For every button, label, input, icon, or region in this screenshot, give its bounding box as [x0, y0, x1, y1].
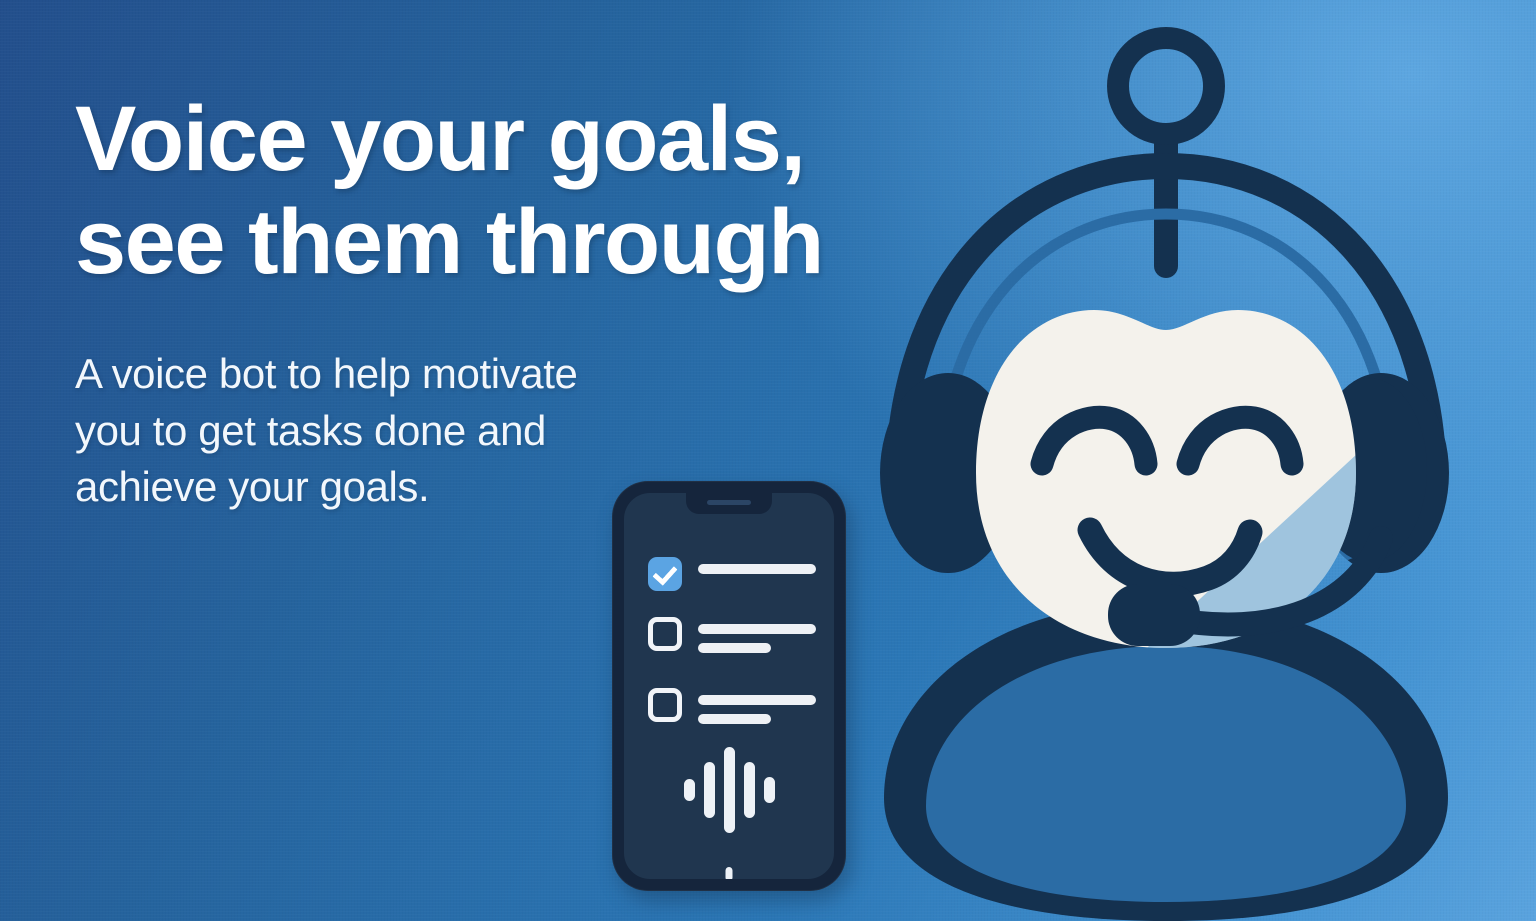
voice-waveform-icon[interactable]: [624, 745, 834, 835]
hero-banner: Voice your goals, see them through A voi…: [0, 0, 1536, 921]
task-line: [698, 624, 816, 634]
phone-screen: [624, 493, 834, 879]
waveform-bar: [764, 777, 775, 803]
waveform-bar: [684, 779, 695, 801]
waveform-bar: [744, 762, 755, 818]
phone-notch: [686, 493, 772, 514]
page-title: Voice your goals, see them through: [75, 88, 875, 294]
checkbox-empty-icon[interactable]: [648, 617, 682, 651]
waveform-bar: [724, 747, 735, 833]
phone-mockup: [612, 481, 846, 891]
task-text-placeholder: [698, 617, 816, 662]
home-indicator: [726, 867, 733, 879]
task-line: [698, 564, 816, 574]
list-item[interactable]: [648, 688, 816, 733]
task-line: [698, 714, 771, 724]
copy-block: Voice your goals, see them through A voi…: [75, 88, 875, 516]
headset-robot-mascot: [836, 18, 1496, 921]
checkbox-empty-icon[interactable]: [648, 688, 682, 722]
speaker-grill-icon: [707, 500, 751, 505]
task-line: [698, 695, 816, 705]
list-item[interactable]: [648, 557, 816, 591]
task-text-placeholder: [698, 557, 816, 583]
robot-body: [884, 601, 1448, 921]
checkbox-checked-icon[interactable]: [648, 557, 682, 591]
waveform-bar: [704, 762, 715, 818]
list-item[interactable]: [648, 617, 816, 662]
task-text-placeholder: [698, 688, 816, 733]
todo-list: [648, 557, 816, 759]
task-line: [698, 643, 771, 653]
